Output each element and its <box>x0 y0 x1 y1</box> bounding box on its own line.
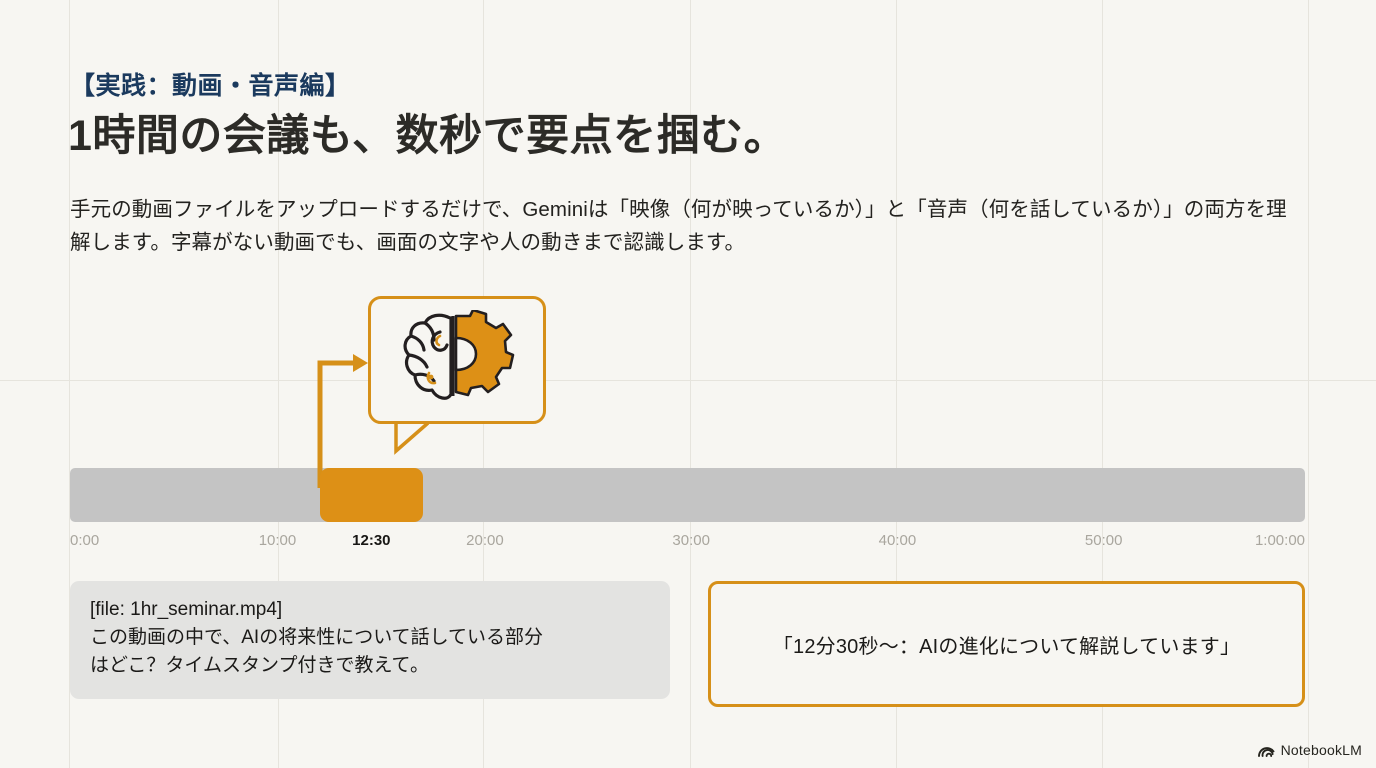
page-title: 1時間の会議も、数秒で要点を掴む。 <box>68 101 787 163</box>
timeline-tick-labels: 0:0010:0012:3020:0030:0040:0050:001:00:0… <box>70 532 1305 556</box>
prompt-line: [file: 1hr_seminar.mp4] <box>90 596 650 624</box>
answer-box: 「12分30秒〜：AIの進化について解説しています」 <box>708 581 1305 707</box>
timeline-track[interactable] <box>70 468 1305 522</box>
prompt-line: この動画の中で、AIの将来性について話している部分 <box>90 624 650 652</box>
timeline-tick-0-00: 0:00 <box>70 532 99 549</box>
timeline-tick-1-00-00: 1:00:00 <box>1255 532 1305 549</box>
timeline-tick-10-00: 10:00 <box>259 532 297 549</box>
answer-text: 「12分30秒〜：AIの進化について解説しています」 <box>773 630 1240 659</box>
eyebrow-label: 【実践：動画・音声編】 <box>70 66 351 102</box>
brand-footer: NotebookLM <box>1258 742 1362 758</box>
timeline-marker[interactable] <box>320 468 423 522</box>
brand-label: NotebookLM <box>1281 742 1362 758</box>
timeline-tick-50-00: 50:00 <box>1085 532 1123 549</box>
timeline-tick-20-00: 20:00 <box>466 532 504 549</box>
timeline-tick-12-30: 12:30 <box>352 532 390 549</box>
prompt-box: [file: 1hr_seminar.mp4] この動画の中で、AIの将来性につ… <box>70 581 670 699</box>
notebooklm-logo-icon <box>1258 743 1275 757</box>
speech-bubble-tail <box>392 421 460 457</box>
timeline-tick-30-00: 30:00 <box>672 532 710 549</box>
timeline-tick-40-00: 40:00 <box>879 532 917 549</box>
lede-paragraph: 手元の動画ファイルをアップロードするだけで、Geminiは「映像（何が映っている… <box>70 193 1296 259</box>
prompt-line: はどこ？タイムスタンプ付きで教えて。 <box>90 652 650 680</box>
brain-gear-icon <box>396 310 518 410</box>
slide-canvas: 【実践：動画・音声編】 1時間の会議も、数秒で要点を掴む。 手元の動画ファイルを… <box>0 0 1376 768</box>
